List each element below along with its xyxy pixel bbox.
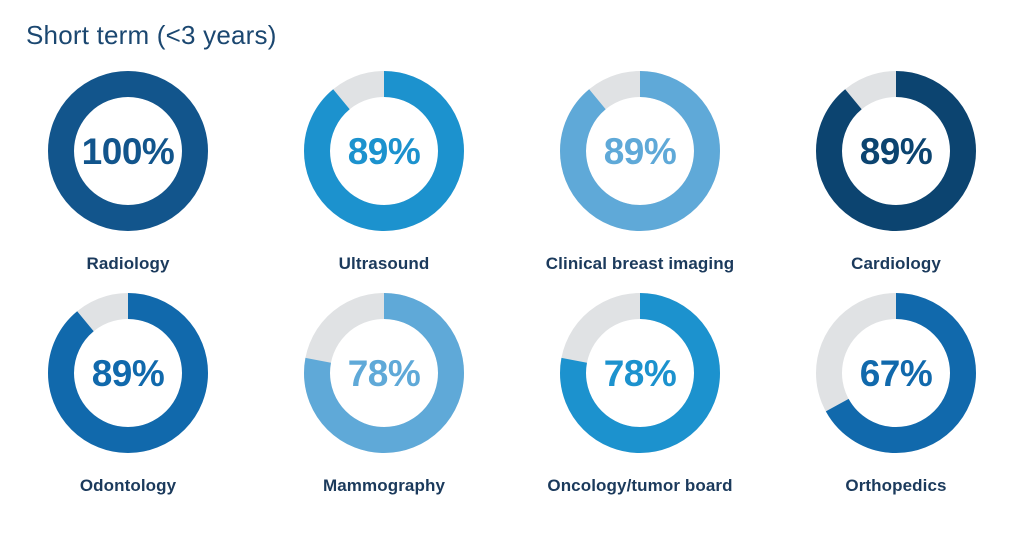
donut-percentage-value: 89%: [299, 66, 469, 236]
donut-card: 89%Odontology: [0, 288, 256, 510]
donut-label: Radiology: [86, 254, 169, 274]
donut-grid: 100%Radiology89%Ultrasound89%Clinical br…: [0, 66, 1024, 510]
donut-card: 89%Ultrasound: [256, 66, 512, 288]
donut-card: 89%Clinical breast imaging: [512, 66, 768, 288]
donut-card: 67%Orthopedics: [768, 288, 1024, 510]
donut-card: 100%Radiology: [0, 66, 256, 288]
donut-chart: 89%: [299, 66, 469, 236]
page-title: Short term (<3 years): [26, 20, 277, 51]
donut-percentage-value: 89%: [43, 288, 213, 458]
donut-percentage-value: 67%: [811, 288, 981, 458]
donut-percentage-value: 78%: [555, 288, 725, 458]
donut-label: Odontology: [80, 476, 176, 496]
donut-card: 78%Mammography: [256, 288, 512, 510]
donut-chart: 89%: [555, 66, 725, 236]
donut-label: Mammography: [323, 476, 445, 496]
donut-label: Orthopedics: [845, 476, 946, 496]
donut-chart: 78%: [299, 288, 469, 458]
donut-label: Oncology/tumor board: [547, 476, 732, 496]
donut-percentage-value: 89%: [811, 66, 981, 236]
donut-percentage-value: 89%: [555, 66, 725, 236]
donut-chart: 89%: [811, 66, 981, 236]
donut-percentage-value: 78%: [299, 288, 469, 458]
donut-label: Ultrasound: [339, 254, 430, 274]
donut-card: 89%Cardiology: [768, 66, 1024, 288]
donut-chart: 100%: [43, 66, 213, 236]
donut-chart: 67%: [811, 288, 981, 458]
donut-card: 78%Oncology/tumor board: [512, 288, 768, 510]
donut-percentage-value: 100%: [43, 66, 213, 236]
donut-chart: 78%: [555, 288, 725, 458]
donut-label: Cardiology: [851, 254, 941, 274]
donut-chart: 89%: [43, 288, 213, 458]
donut-label: Clinical breast imaging: [546, 254, 734, 274]
